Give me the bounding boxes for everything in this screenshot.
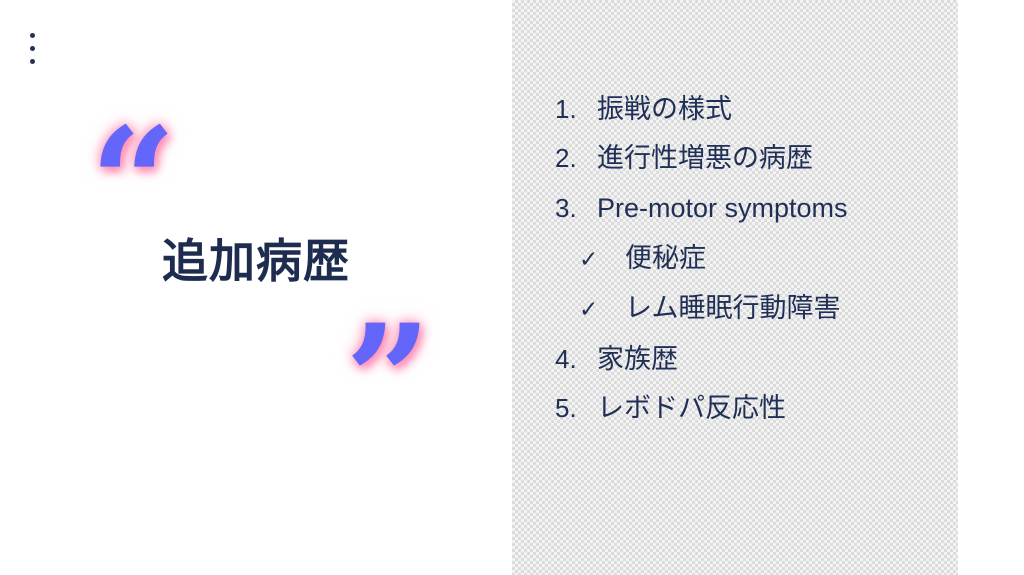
list-item-marker: 4. bbox=[555, 346, 597, 372]
dot-2-icon bbox=[30, 46, 35, 51]
list-item-label: 進行性増悪の病歴 bbox=[597, 145, 813, 172]
agenda-list: 1. 振戦の様式 2. 進行性増悪の病歴 3. Pre-motor sympto… bbox=[555, 96, 955, 442]
page-title: 追加病歴 bbox=[0, 225, 512, 291]
closing-quote-icon: ” bbox=[345, 305, 429, 455]
list-item-label: 家族歴 bbox=[597, 346, 678, 373]
sub-list-item: ✓ レム睡眠行動障害 bbox=[555, 295, 955, 322]
list-item: 1. 振戦の様式 bbox=[555, 96, 955, 123]
list-item-marker: 3. bbox=[555, 195, 597, 221]
list-item: 2. 進行性増悪の病歴 bbox=[555, 145, 955, 172]
slide-canvas: “ 追加病歴 ” 1. 振戦の様式 2. 進行性増悪の病歴 3. Pre-mot… bbox=[0, 0, 1024, 575]
check-icon: ✓ bbox=[579, 248, 625, 271]
list-item-label: 振戦の様式 bbox=[597, 96, 732, 123]
check-icon: ✓ bbox=[579, 298, 625, 321]
sub-list-item-label: 便秘症 bbox=[625, 245, 706, 272]
list-item: 3. Pre-motor symptoms bbox=[555, 195, 955, 222]
sub-list-item: ✓ 便秘症 bbox=[555, 245, 955, 272]
list-item-marker: 2. bbox=[555, 145, 597, 171]
list-item: 4. 家族歴 bbox=[555, 346, 955, 373]
three-dots-icon[interactable] bbox=[28, 33, 36, 64]
list-item-label: レボドパ反応性 bbox=[597, 395, 786, 422]
sub-list-item-label: レム睡眠行動障害 bbox=[625, 295, 840, 322]
list-item-marker: 1. bbox=[555, 96, 597, 122]
list-item-label: Pre-motor symptoms bbox=[597, 195, 848, 222]
list-item: 5. レボドパ反応性 bbox=[555, 395, 955, 422]
list-item-marker: 5. bbox=[555, 395, 597, 421]
dot-1-icon bbox=[30, 33, 35, 38]
dot-3-icon bbox=[30, 59, 35, 64]
